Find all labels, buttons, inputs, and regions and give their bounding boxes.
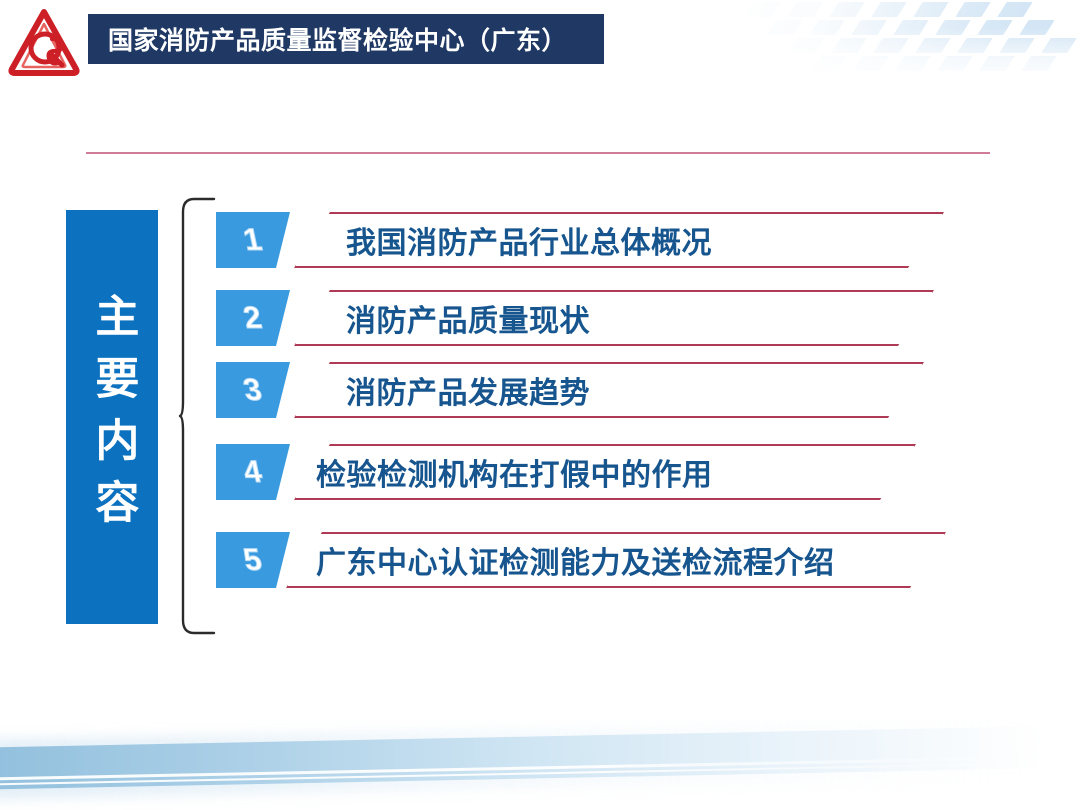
decorative-bottom-band <box>0 720 1080 810</box>
content-row-3-label: 消防产品发展趋势 <box>346 362 590 418</box>
content-row-4-number-badge: 4 <box>216 444 290 500</box>
content-row-2[interactable]: 2 消防产品质量现状 <box>216 290 956 346</box>
qs-certification-logo <box>8 7 80 77</box>
content-row-5[interactable]: 5 广东中心认证检测能力及送检流程介绍 <box>216 532 976 588</box>
content-row-3[interactable]: 3 消防产品发展趋势 <box>216 362 956 418</box>
content-row-5-label: 广东中心认证检测能力及送检流程介绍 <box>316 532 835 588</box>
content-row-1-number-badge: 1 <box>216 212 290 268</box>
content-row-3-number: 3 <box>241 372 266 408</box>
page-title: 国家消防产品质量监督检验中心（广东） <box>108 21 567 57</box>
content-row-5-number: 5 <box>241 542 266 578</box>
content-row-2-number-badge: 2 <box>216 290 290 346</box>
content-row-4-number: 4 <box>241 454 266 490</box>
content-row-5-number-badge: 5 <box>216 532 290 588</box>
content-row-4[interactable]: 4 检验检测机构在打假中的作用 <box>216 444 956 500</box>
content-row-1-label: 我国消防产品行业总体概况 <box>346 212 712 268</box>
slide-canvas: 国家消防产品质量监督检验中心（广东） 主要内容 1 我国消防产品行业总体概况 2… <box>0 0 1080 810</box>
content-row-3-number-badge: 3 <box>216 362 290 418</box>
section-label-text: 主要内容 <box>89 293 136 541</box>
curly-brace-decoration <box>178 196 218 636</box>
section-label-main-contents: 主要内容 <box>66 210 158 624</box>
decorative-checker-pattern <box>720 0 1080 96</box>
content-row-2-number: 2 <box>241 300 266 336</box>
content-row-2-label: 消防产品质量现状 <box>346 290 590 346</box>
content-row-1[interactable]: 1 我国消防产品行业总体概况 <box>216 212 956 268</box>
content-row-1-number: 1 <box>241 222 266 258</box>
divider-rule <box>86 152 990 154</box>
header-title-bar: 国家消防产品质量监督检验中心（广东） <box>88 14 604 64</box>
content-row-4-label: 检验检测机构在打假中的作用 <box>316 444 713 500</box>
